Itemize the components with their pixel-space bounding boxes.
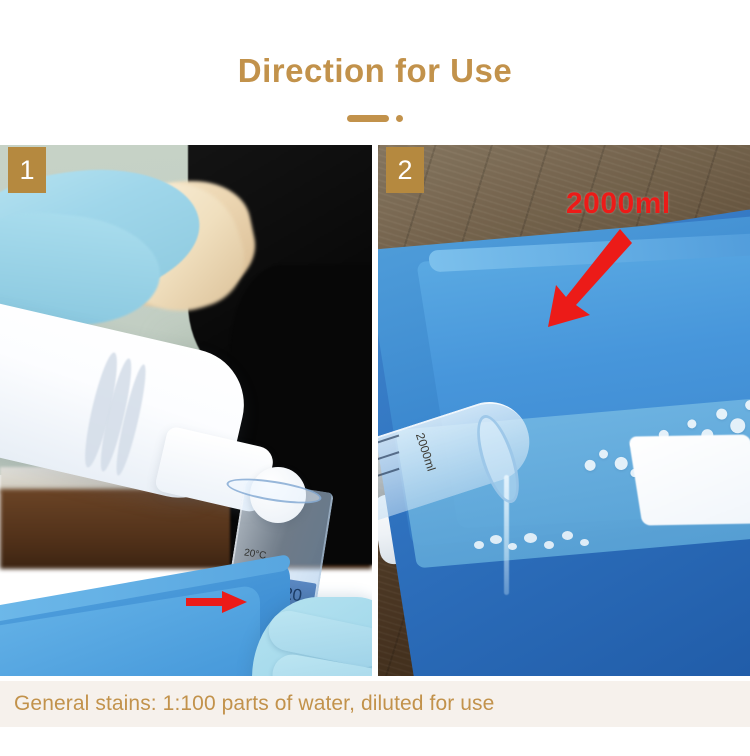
red-arrow-down-left-icon [546, 227, 636, 337]
step-1-panel[interactable]: SWL-101 Dr.Dirt 20°C 30ml 20 10 [0, 145, 372, 676]
caption-bar: General stains: 1:100 parts of water, di… [0, 681, 750, 727]
steps-gallery: SWL-101 Dr.Dirt 20°C 30ml 20 10 [0, 145, 750, 676]
step-1-badge: 1 [8, 147, 46, 193]
basin-highlight [628, 434, 750, 525]
step-1-photo: SWL-101 Dr.Dirt 20°C 30ml 20 10 [0, 145, 372, 676]
bottom-spacer [0, 727, 750, 756]
step-2-badge: 2 [386, 147, 424, 193]
water-splash [470, 527, 600, 567]
page-title: Direction for Use [0, 52, 750, 90]
volume-annotation-label: 2000ml [566, 187, 671, 221]
step-2-photo: 2000ml 2000ml [378, 145, 750, 676]
red-arrow-right-icon [186, 589, 248, 615]
step-2-panel[interactable]: 2000ml 2000ml 2 [378, 145, 750, 676]
header: Direction for Use [0, 0, 750, 145]
divider-dot [396, 115, 403, 122]
dash-dot-divider-icon [0, 112, 750, 124]
divider-bar [347, 115, 389, 122]
caption-text: General stains: 1:100 parts of water, di… [0, 692, 494, 716]
